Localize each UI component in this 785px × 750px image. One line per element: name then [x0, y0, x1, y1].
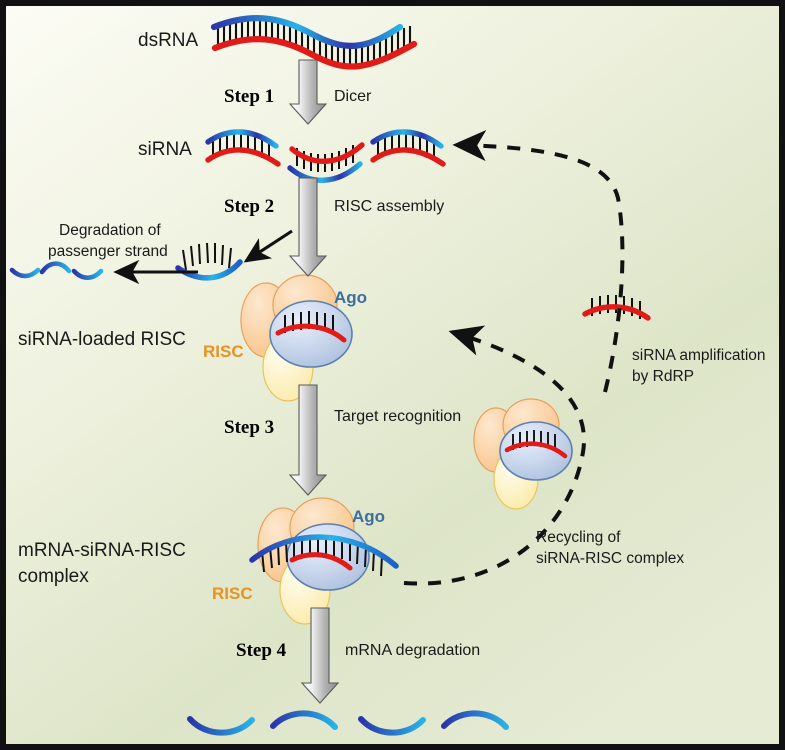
ago-label-loaded: Ago: [334, 288, 367, 307]
stage-label-dsrna: dsRNA: [138, 30, 199, 51]
annotation-degradation-line2: passenger strand: [48, 243, 168, 260]
annotation-amplification-line1: siRNA amplification: [632, 347, 766, 364]
ago-label-target: Ago: [352, 507, 385, 526]
step-2-process-label: RISC assembly: [334, 198, 444, 215]
step-4-process-label: mRNA degradation: [345, 642, 480, 659]
step-3-process-label: Target recognition: [334, 408, 461, 425]
step-1-process-label: Dicer: [334, 88, 372, 105]
stage-label-mrna-sirna-risc-line2: complex: [18, 566, 89, 587]
step-3-label: Step 3: [224, 417, 274, 438]
risc-label-target: RISC: [212, 584, 253, 603]
annotation-recycling-line1: Recycling of: [536, 529, 621, 546]
rnai-pathway-figure: dsRNA siRNA siRNA-loaded RISC mRNA-siRNA…: [0, 0, 785, 750]
rnai-pathway-canvas: dsRNA siRNA siRNA-loaded RISC mRNA-siRNA…: [0, 0, 785, 750]
risc-label-loaded: RISC: [203, 342, 244, 361]
stage-label-sirna: siRNA: [138, 139, 192, 160]
stage-label-mrna-sirna-risc-line1: mRNA-siRNA-RISC: [18, 540, 186, 561]
stage-label-sirna-loaded-risc: siRNA-loaded RISC: [18, 329, 186, 350]
annotation-degradation-line1: Degradation of: [59, 222, 161, 239]
annotation-amplification-line2: by RdRP: [632, 368, 694, 385]
step-2-label: Step 2: [224, 196, 274, 217]
step-4-label: Step 4: [236, 640, 287, 661]
annotation-recycling-line2: siRNA-RISC complex: [536, 550, 684, 567]
step-1-label: Step 1: [224, 86, 274, 107]
